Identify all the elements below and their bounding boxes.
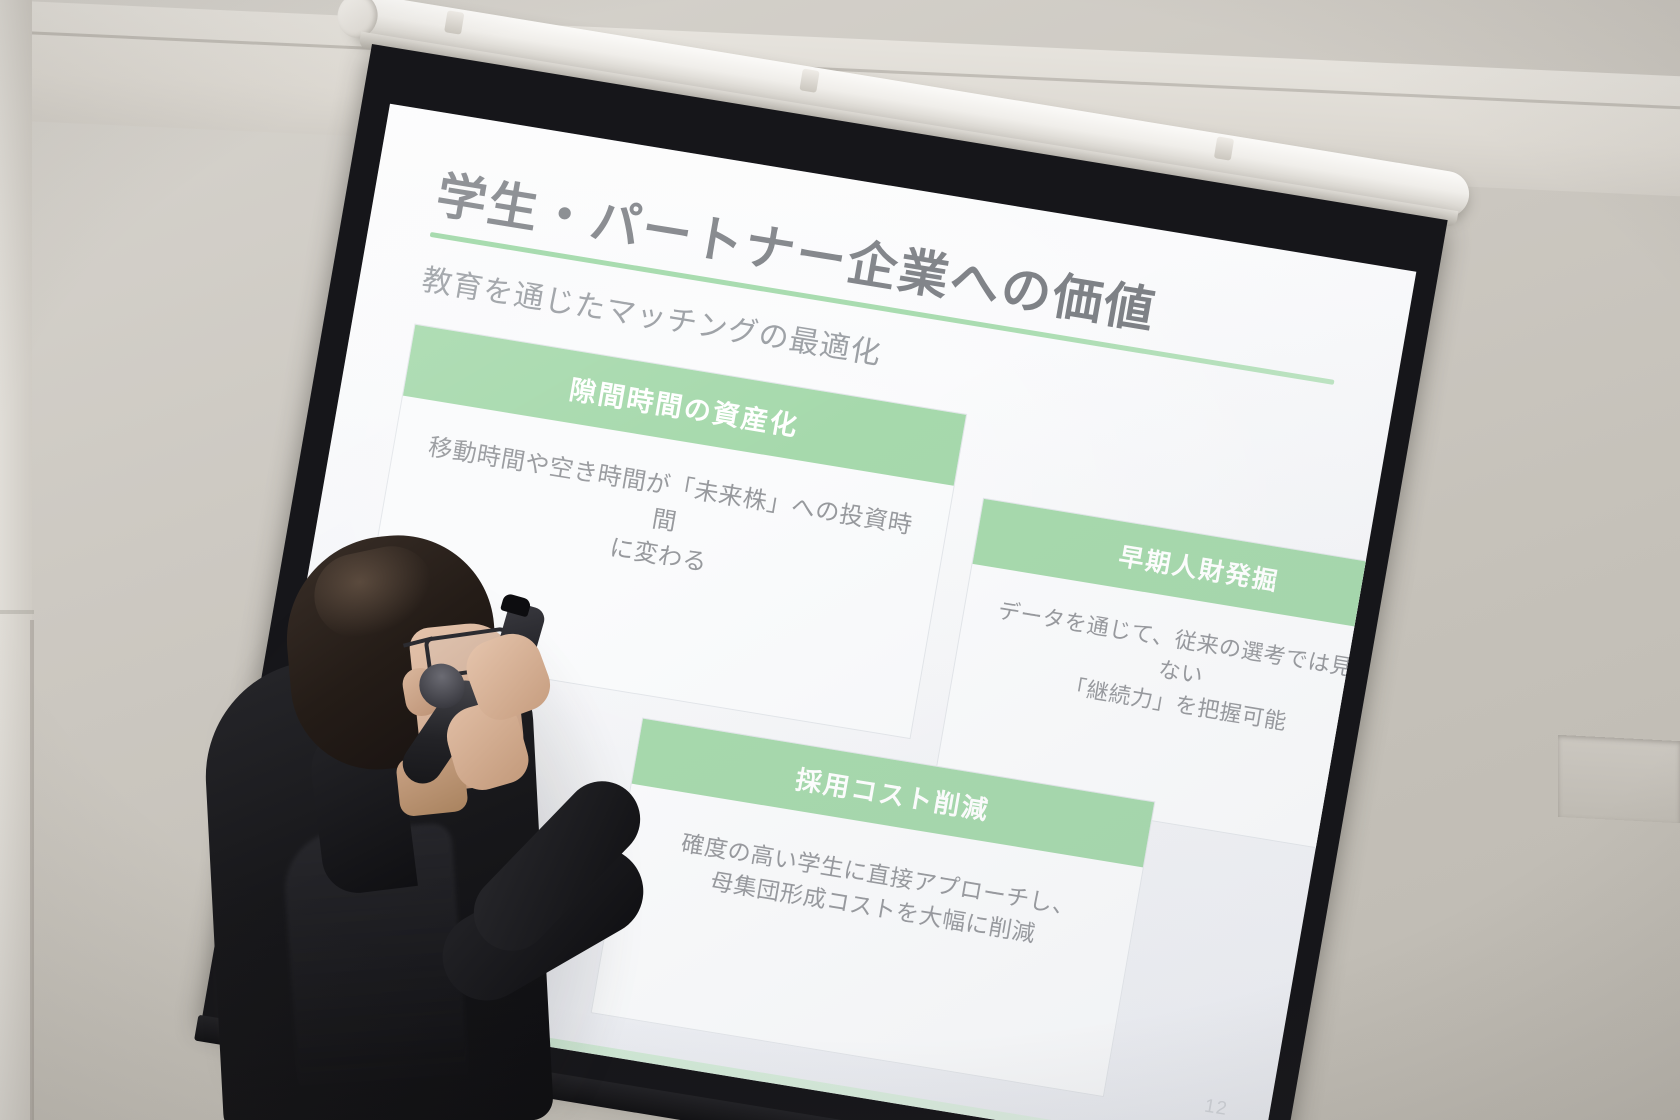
presentation-scene: 学生・パートナー企業への価値 教育を通じたマッチングの最適化 隙間時間の資産化 …: [0, 0, 1680, 1120]
wall-left-panel: [0, 0, 32, 1120]
presenter: [198, 528, 658, 1120]
wall-left-seam-top: [0, 610, 34, 614]
housing-bracket: [1214, 136, 1234, 160]
housing-bracket: [799, 68, 819, 92]
housing-bracket: [444, 10, 464, 34]
wall-right-recess: [1558, 735, 1680, 823]
wall-left-seam: [30, 620, 34, 1120]
slide-page-number: 12: [1203, 1096, 1230, 1120]
